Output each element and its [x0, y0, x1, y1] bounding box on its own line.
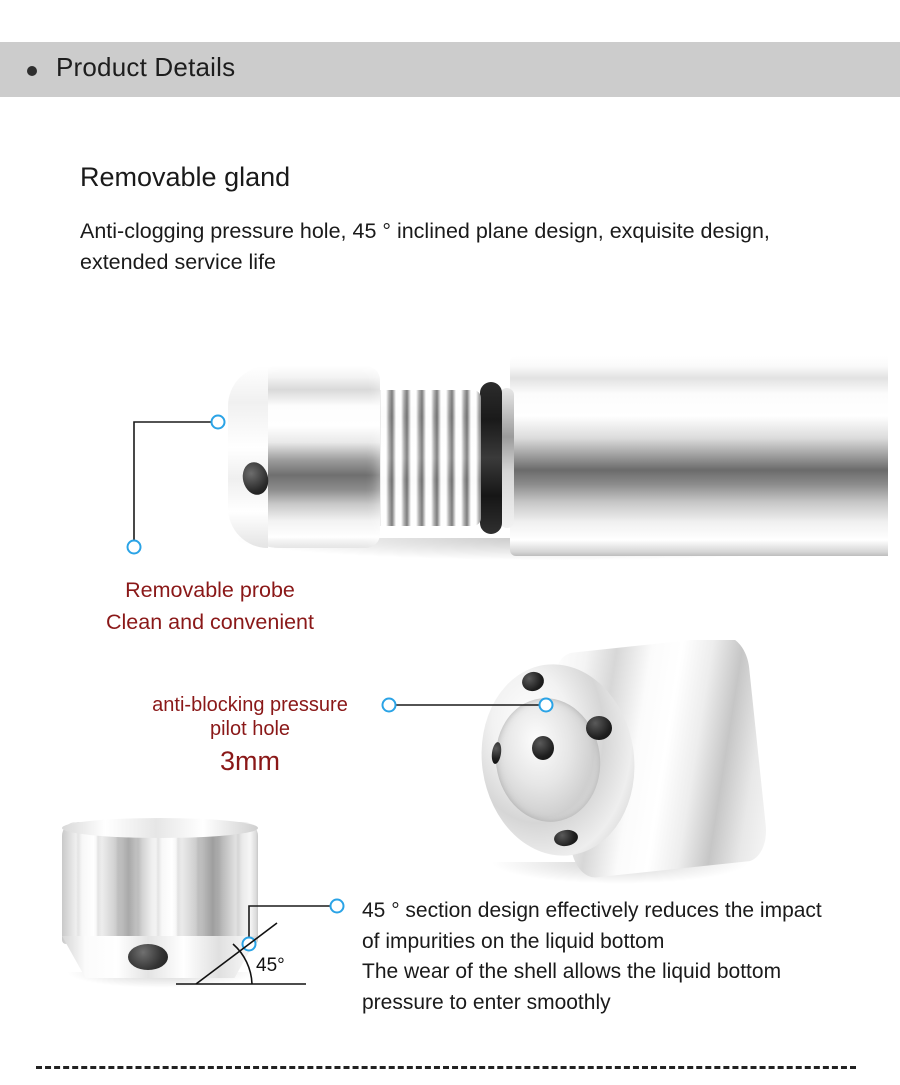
probe-marker-on-label: [128, 541, 141, 554]
callout-pressure-hole: anti-blocking pressure pilot hole 3mm: [100, 693, 400, 779]
leader-line-probe: [134, 422, 212, 541]
end-face-hole-right: [586, 716, 612, 740]
bullet-dot-icon: [27, 66, 37, 76]
bottom-dashed-divider: [36, 1066, 856, 1069]
callout-probe-line2: Clean and convenient: [60, 606, 360, 638]
callout-hole-line2: pilot hole: [100, 717, 400, 741]
probe-oring: [480, 382, 502, 534]
product-photo-end-face: [470, 640, 800, 890]
section-header-bar: Product Details: [0, 42, 900, 97]
angle-label-45: 45°: [256, 955, 285, 977]
feature-description: Anti-clogging pressure hole, 45 ° inclin…: [80, 216, 850, 278]
callout-chamfer-description: 45 ° section design effectively reduces …: [362, 896, 832, 1018]
probe-marker-on-part: [212, 416, 225, 429]
chamfer-marker-on-label: [331, 900, 344, 913]
end-face-center-hole: [532, 736, 554, 760]
probe-barrel: [510, 356, 888, 556]
product-details-page: Product Details Removable gland Anti-clo…: [0, 0, 900, 1085]
probe-cap-bevel: [228, 366, 268, 548]
callout-hole-line1: anti-blocking pressure: [100, 693, 400, 717]
chamfer-paragraph-2: The wear of the shell allows the liquid …: [362, 957, 832, 1018]
gland-cap-top-rim: [62, 818, 258, 838]
product-photo-probe-assembly: [228, 352, 888, 567]
callout-hole-size: 3mm: [100, 743, 400, 779]
probe-oring-seat: [500, 388, 514, 528]
chamfer-paragraph-1: 45 ° section design effectively reduces …: [362, 896, 832, 957]
callout-removable-probe: Removable probe Clean and convenient: [60, 574, 360, 638]
gland-cap-pressure-hole: [128, 944, 168, 970]
section-title: Product Details: [56, 52, 235, 83]
product-photo-gland-cap: [50, 818, 280, 988]
probe-threaded-section: [366, 390, 481, 526]
gland-cap-body: [62, 822, 258, 944]
feature-title: Removable gland: [80, 162, 290, 193]
callout-probe-line1: Removable probe: [60, 574, 360, 606]
